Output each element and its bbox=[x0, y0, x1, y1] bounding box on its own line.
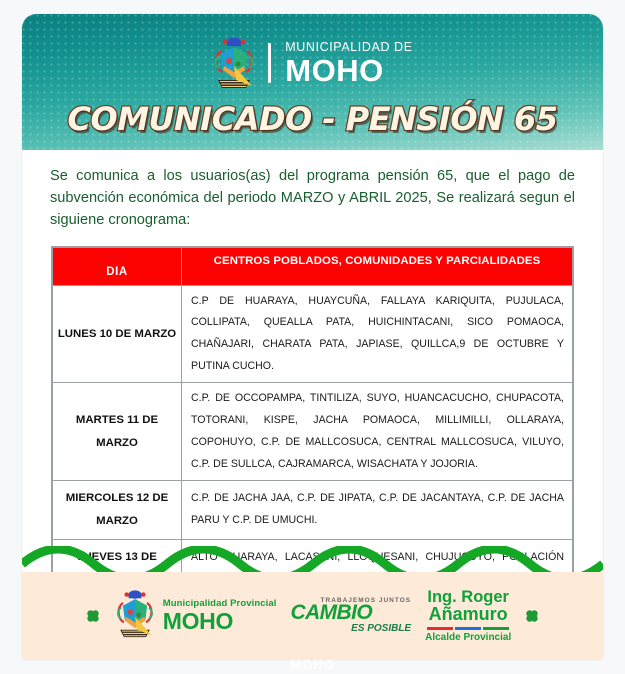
page-title: COMUNICADO - PENSIÓN 65 bbox=[22, 100, 603, 138]
table-header-row: DIA CENTROS POBLADOS, COMUNIDADES Y PARC… bbox=[53, 247, 573, 285]
moho-coat-of-arms-icon bbox=[212, 36, 256, 90]
footer-bar: Municipalidad Provincial MOHO TRABAJEMOS… bbox=[22, 572, 603, 660]
row-day: MARTES 11 DE MARZO bbox=[53, 383, 182, 481]
row-places: C.P. DE JACHA JAA, C.P. DE JIPATA, C.P. … bbox=[182, 481, 573, 540]
header-logo-row: MUNICIPALIDAD DE MOHO bbox=[22, 14, 603, 90]
row-places: C.P. DE OCCOPAMPA, TINTILIZA, SUYO, HUAN… bbox=[182, 383, 573, 481]
header-logo-top: MUNICIPALIDAD DE bbox=[285, 41, 412, 54]
cambio-tagline-bottom: ES POSIBLE bbox=[291, 624, 412, 634]
clover-icon bbox=[525, 609, 539, 623]
moho-coat-of-arms-icon bbox=[114, 589, 156, 644]
cambio-wordmark: CAMBIO bbox=[291, 602, 412, 623]
row-day: LUNES 10 DE MARZO bbox=[53, 285, 182, 383]
mayor-name-line2: Añamuro bbox=[425, 605, 511, 624]
table-row: MARTES 11 DE MARZO C.P. DE OCCOPAMPA, TI… bbox=[53, 383, 573, 481]
table-row: MIERCOLES 12 DE MARZO C.P. DE JACHA JAA,… bbox=[53, 481, 573, 540]
column-header-dia: DIA bbox=[53, 247, 182, 285]
footer-muni-main: MOHO bbox=[163, 610, 277, 633]
row-places: C.P DE HUARAYA, HUAYCUÑA, FALLAYA KARIQU… bbox=[182, 285, 573, 383]
intro-paragraph: Se comunica a los usuarios(as) del progr… bbox=[50, 166, 575, 232]
table-row: LUNES 10 DE MARZO C.P DE HUARAYA, HUAYCU… bbox=[53, 285, 573, 383]
footer-municipality-text: Municipalidad Provincial MOHO bbox=[163, 599, 277, 633]
header-banner: MUNICIPALIDAD DE MOHO COMUNICADO - PENSI… bbox=[22, 14, 603, 150]
mayor-rule bbox=[425, 627, 511, 630]
mayor-role: Alcalde Provincial bbox=[425, 633, 511, 644]
header-logo-text: MUNICIPALIDAD DE MOHO bbox=[285, 41, 412, 85]
wave-divider bbox=[22, 546, 603, 572]
announcement-card: MUNICIPALIDAD DE MOHO COMUNICADO - PENSI… bbox=[22, 14, 603, 660]
column-header-centros: CENTROS POBLADOS, COMUNIDADES Y PARCIALI… bbox=[182, 247, 573, 285]
poster-page: MUNICIPALIDAD DE MOHO COMUNICADO - PENSI… bbox=[0, 0, 625, 674]
table-head: DIA CENTROS POBLADOS, COMUNIDADES Y PARC… bbox=[53, 247, 573, 285]
watermark-text: MOHO bbox=[0, 657, 625, 672]
clover-icon bbox=[86, 609, 100, 623]
cambio-logo: TRABAJEMOS JUNTOS CAMBIO ES POSIBLE bbox=[291, 598, 412, 635]
mayor-block: Ing. Roger Añamuro Alcalde Provincial bbox=[425, 589, 511, 644]
row-day: MIERCOLES 12 DE MARZO bbox=[53, 481, 182, 540]
header-logo-main: MOHO bbox=[285, 56, 412, 85]
footer-municipality-logo: Municipalidad Provincial MOHO bbox=[114, 589, 277, 644]
logo-divider bbox=[268, 43, 271, 83]
